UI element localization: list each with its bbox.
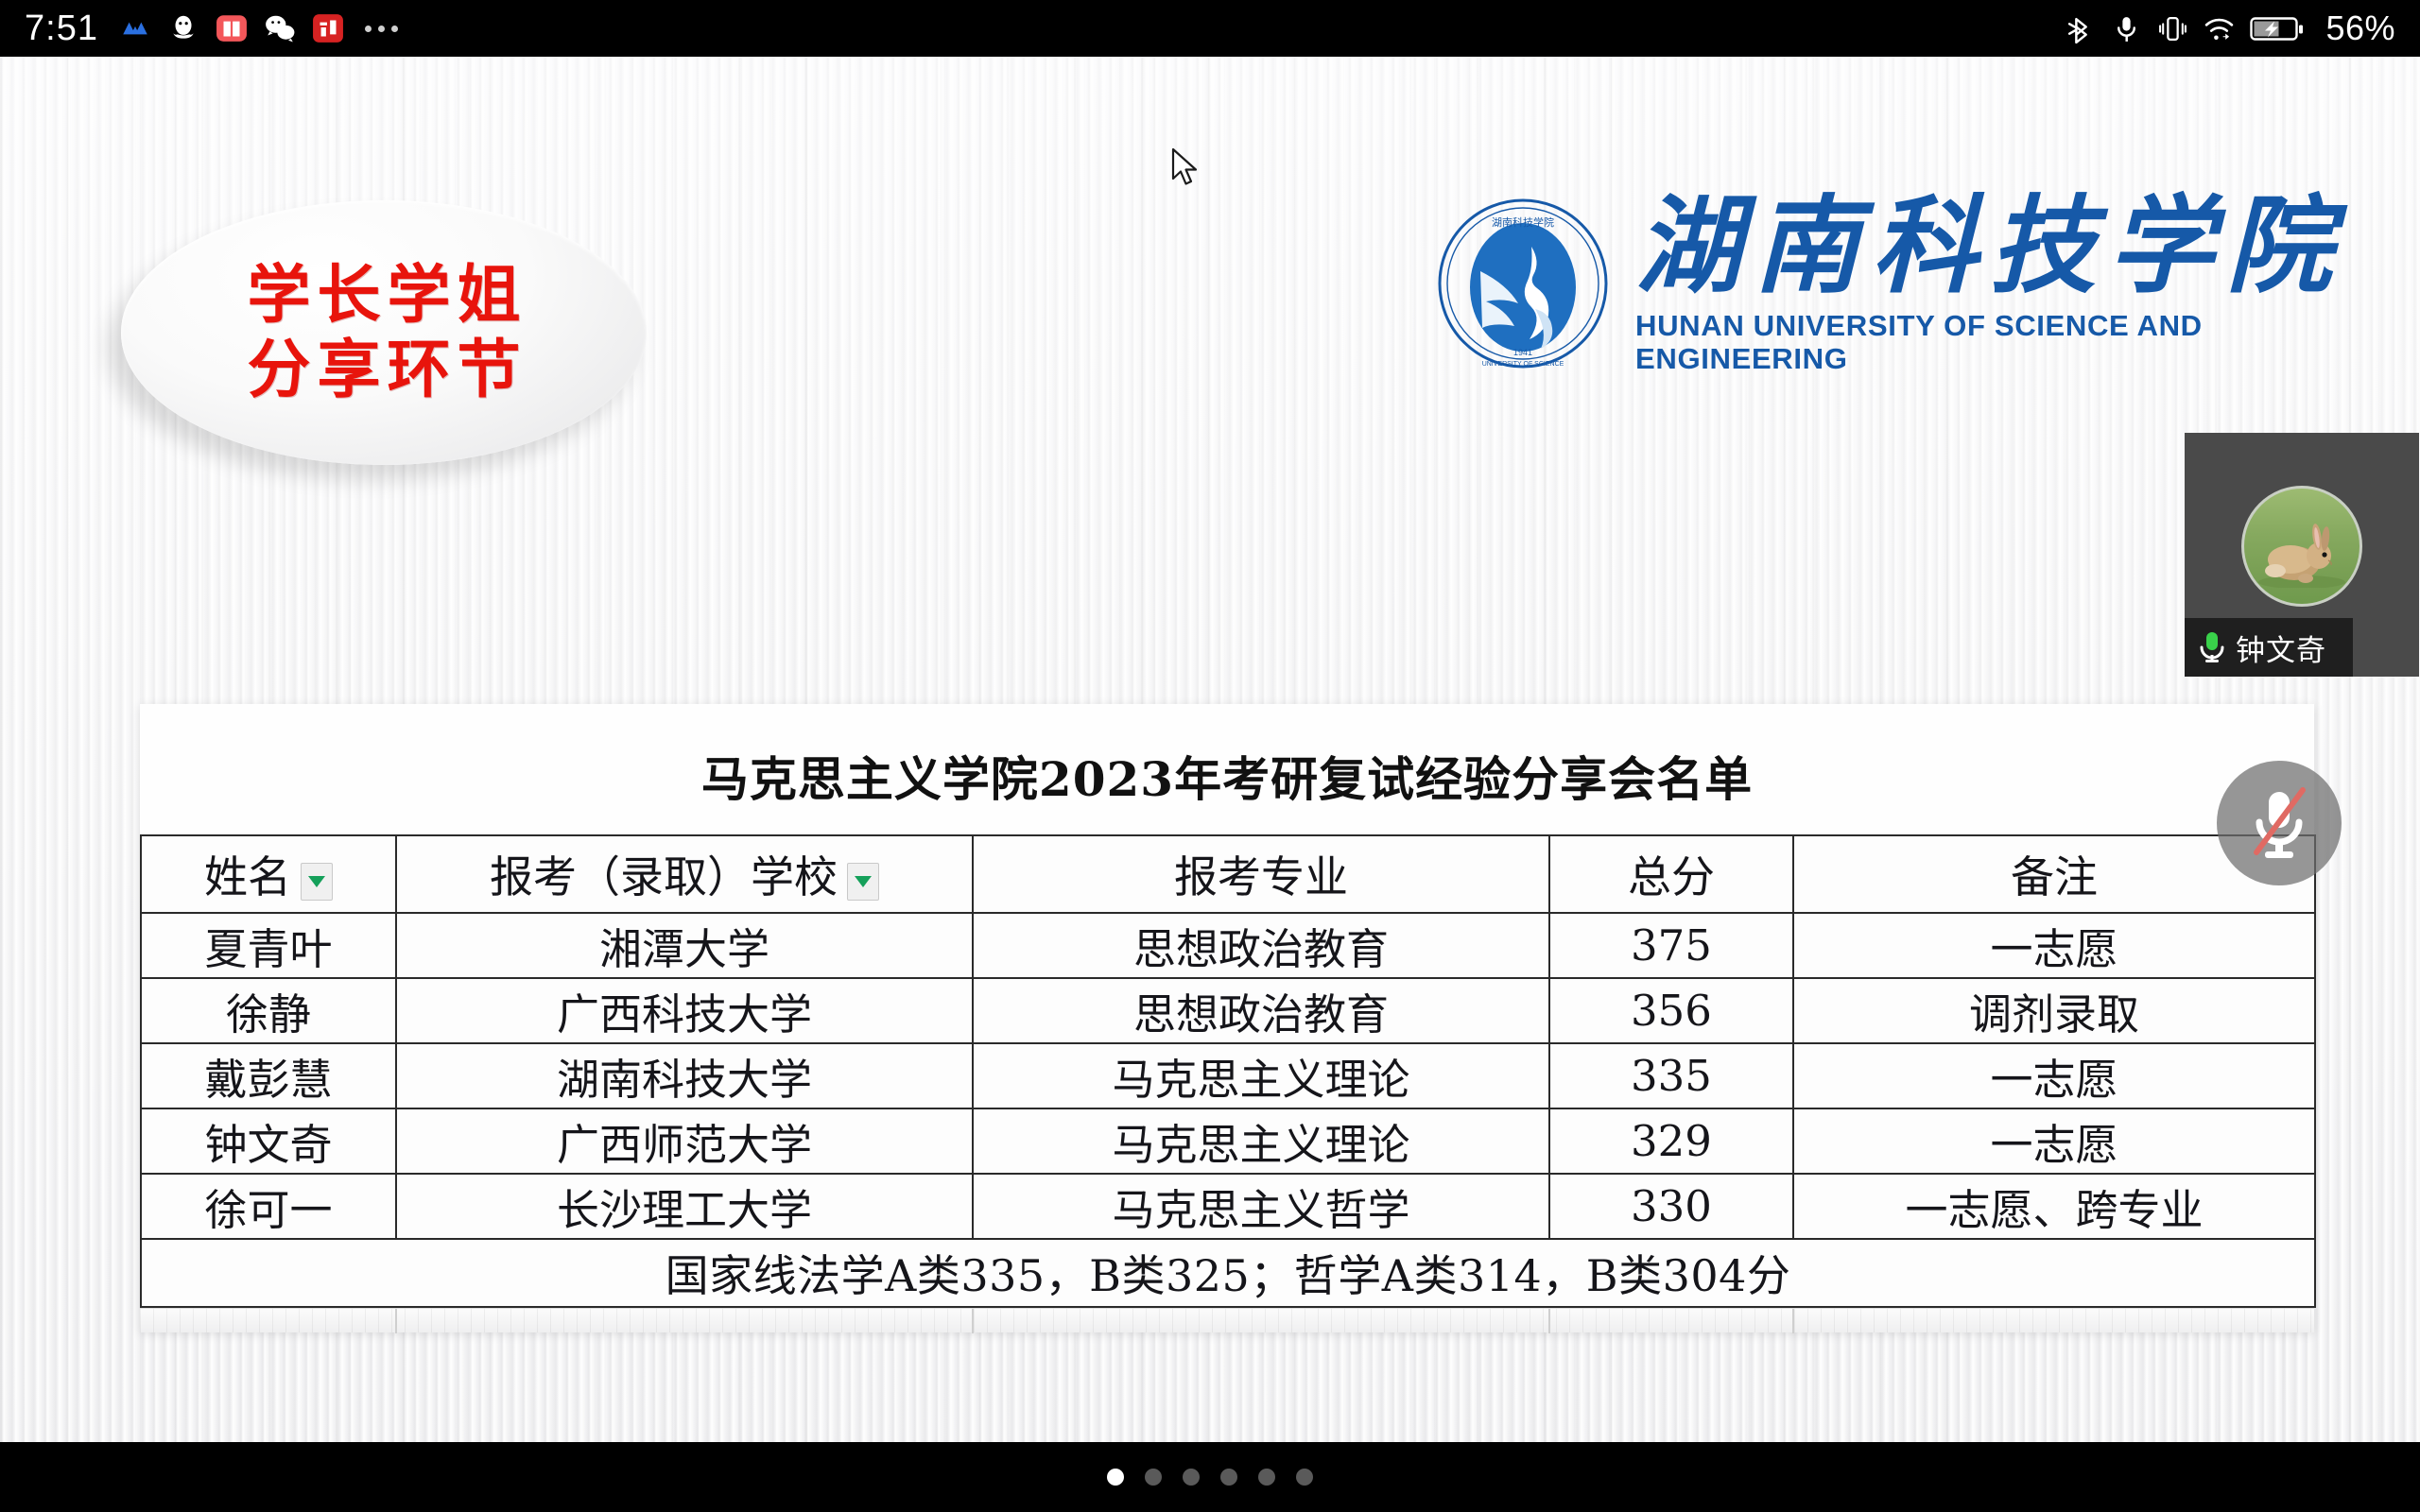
presentation-slide[interactable]: 学长学姐 分享环节 湖南科技学院 1941 UNIVERSITY OF SCIE… [0,57,2420,1442]
chevron-down-icon [855,876,872,887]
university-name-chinese: 湖南科技学院 [1635,191,2344,302]
university-seal-icon: 湖南科技学院 1941 UNIVERSITY OF SCIENCE [1437,198,1609,369]
cell-school[interactable]: 湘潭大学 [396,913,973,978]
cell-school[interactable]: 长沙理工大学 [396,1174,973,1239]
column-header-major[interactable]: 报考专业 [973,835,1549,913]
microphone-on-icon [2198,630,2226,664]
cell-score[interactable]: 375 [1549,913,1793,978]
column-divider-tick [1548,1309,1550,1333]
column-header-score[interactable]: 总分 [1549,835,1793,913]
rabbit-avatar [2256,522,2347,588]
oval-title-line-1: 学长学姐 [241,258,527,333]
spreadsheet-panel[interactable]: 马克思主义学院2023年考研复试经验分享会名单 姓名 报考（录取）学校 [140,704,2314,1332]
university-wordmark: 湖南科技学院 HUNAN UNIVERSITY OF SCIENCE AND E… [1635,191,2344,376]
sheet-title: 马克思主义学院2023年考研复试经验分享会名单 [140,704,2314,810]
column-header-name[interactable]: 姓名 [141,835,396,913]
cell-school[interactable]: 广西科技大学 [396,978,973,1043]
xuexi-app-icon [312,12,344,44]
sheet-bottom-edge [140,1308,2314,1332]
mute-microphone-button[interactable] [2217,761,2342,885]
table-row[interactable]: 徐可一长沙理工大学马克思主义哲学330一志愿、跨专业 [141,1174,2315,1239]
column-header-school-label: 报考（录取）学校 [490,843,838,905]
cell-major[interactable]: 马克思主义理论 [973,1108,1549,1174]
cell-score[interactable]: 329 [1549,1108,1793,1174]
slide-oval-title-shape: 学长学姐 分享环节 [121,200,647,465]
table-footer-row: 国家线法学A类335，B类325；哲学A类314，B类304分 [141,1239,2315,1307]
column-divider-tick [972,1309,974,1333]
participant-name-bar: 钟文奇 [2185,618,2353,677]
microphone-muted-icon [2244,782,2314,864]
pagination-dot-2[interactable] [1145,1469,1162,1486]
university-logo: 湖南科技学院 1941 UNIVERSITY OF SCIENCE 湖南科技学院… [1437,189,2344,378]
cell-name[interactable]: 戴彭慧 [141,1043,396,1108]
pagination-dot-4[interactable] [1220,1469,1237,1486]
pagination-dot-5[interactable] [1258,1469,1275,1486]
cell-name[interactable]: 徐可一 [141,1174,396,1239]
cell-school[interactable]: 湖南科技大学 [396,1043,973,1108]
cell-note[interactable]: 一志愿 [1793,1043,2315,1108]
cell-score[interactable]: 330 [1549,1174,1793,1239]
column-header-name-label: 姓名 [204,843,291,905]
cell-score[interactable]: 335 [1549,1043,1793,1108]
cell-note[interactable]: 调剂录取 [1793,978,2315,1043]
table-header-row: 姓名 报考（录取）学校 报考专业 总分 备注 [141,835,2315,913]
pagination-dot-1[interactable] [1107,1469,1124,1486]
cell-major[interactable]: 马克思主义理论 [973,1043,1549,1108]
status-left-icon-group [119,12,398,44]
cell-note[interactable]: 一志愿、跨专业 [1793,1174,2315,1239]
column-divider-tick [395,1309,397,1333]
cell-note[interactable]: 一志愿 [1793,913,2315,978]
participant-name-label: 钟文奇 [2236,627,2326,669]
book-app-icon [216,12,248,44]
pagination-dot-6[interactable] [1296,1469,1313,1486]
oval-title-line-2: 分享环节 [241,333,527,407]
table-row[interactable]: 徐静广西科技大学思想政治教育356调剂录取 [141,978,2315,1043]
battery-charging-icon [2250,13,2305,44]
qq-icon [167,12,199,44]
table-body: 夏青叶湘潭大学思想政治教育375一志愿徐静广西科技大学思想政治教育356调剂录取… [141,913,2315,1239]
cell-name[interactable]: 钟文奇 [141,1108,396,1174]
cell-note[interactable]: 一志愿 [1793,1108,2315,1174]
chevron-down-icon [308,876,325,887]
column-header-school[interactable]: 报考（录取）学校 [396,835,973,913]
vibrate-icon [2157,13,2188,44]
filter-dropdown-name[interactable] [301,863,333,901]
svg-text:UNIVERSITY OF SCIENCE: UNIVERSITY OF SCIENCE [1482,361,1564,368]
table-row[interactable]: 钟文奇广西师范大学马克思主义理论329一志愿 [141,1108,2315,1174]
cell-name[interactable]: 徐静 [141,978,396,1043]
cell-name[interactable]: 夏青叶 [141,913,396,978]
sheet-title-text: 马克思主义学院2023年考研复试经验分享会名单 [701,751,1753,807]
cell-major[interactable]: 思想政治教育 [973,978,1549,1043]
bluetooth-icon [2065,13,2096,44]
cell-major[interactable]: 马克思主义哲学 [973,1174,1549,1239]
meitu-app-icon [119,12,151,44]
cell-major[interactable]: 思想政治教育 [973,913,1549,978]
microphone-icon [2111,13,2142,44]
column-divider-tick [1792,1309,1794,1333]
wifi-icon [2204,13,2235,44]
table-row[interactable]: 夏青叶湘潭大学思想政治教育375一志愿 [141,913,2315,978]
slide-pagination[interactable] [0,1442,2420,1512]
svg-text:1941: 1941 [1513,348,1532,357]
participant-video-tile[interactable]: 钟文奇 [2185,433,2419,677]
national-score-line-note: 国家线法学A类335，B类325；哲学A类314，B类304分 [141,1239,2315,1307]
cell-score[interactable]: 356 [1549,978,1793,1043]
filter-dropdown-school[interactable] [847,863,879,901]
battery-percent-label: 56% [2325,9,2395,48]
mouse-pointer-icon [1170,147,1204,189]
status-bar: 7:51 56% [0,0,2420,57]
wechat-icon [264,12,296,44]
cell-school[interactable]: 广西师范大学 [396,1108,973,1174]
participants-table[interactable]: 姓名 报考（录取）学校 报考专业 总分 备注 夏青叶湘潭大学思想 [140,834,2316,1308]
svg-text:湖南科技学院: 湖南科技学院 [1492,215,1554,229]
avatar [2241,486,2362,607]
table-row[interactable]: 戴彭慧湖南科技大学马克思主义理论335一志愿 [141,1043,2315,1108]
pagination-dot-3[interactable] [1183,1469,1200,1486]
status-right-icon-group: 56% [2065,9,2395,48]
status-clock: 7:51 [25,10,98,46]
university-name-english: HUNAN UNIVERSITY OF SCIENCE AND ENGINEER… [1635,310,2359,376]
more-dots-icon [365,26,398,32]
